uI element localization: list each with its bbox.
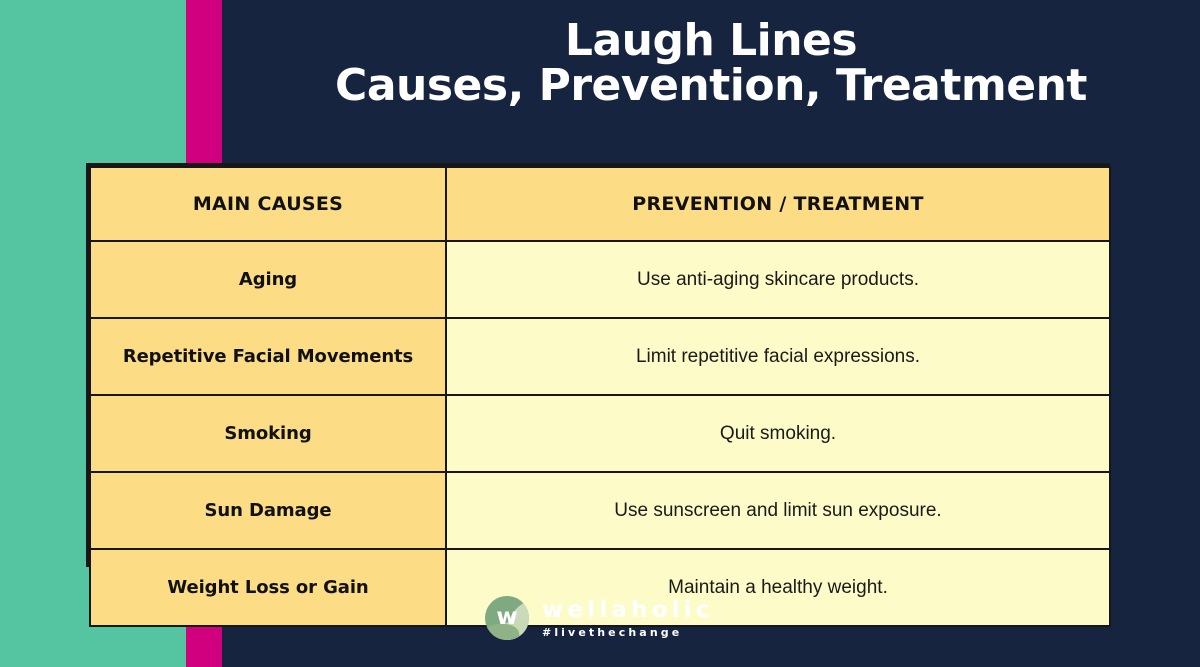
table-header-row: MAIN CAUSES PREVENTION / TREATMENT: [90, 167, 1110, 241]
cause-cell: Weight Loss or Gain: [90, 549, 446, 626]
page-title-line-2: Causes, Prevention, Treatment: [222, 63, 1200, 108]
poster-canvas: Laugh Lines Causes, Prevention, Treatmen…: [0, 0, 1200, 667]
column-header-main-causes: MAIN CAUSES: [90, 167, 446, 241]
brand-logo: w wellaholic #livethechange: [485, 596, 714, 640]
treatment-cell: Use sunscreen and limit sun exposure.: [446, 472, 1110, 549]
page-title-line-1: Laugh Lines: [222, 18, 1200, 63]
cause-cell: Sun Damage: [90, 472, 446, 549]
page-title: Laugh Lines Causes, Prevention, Treatmen…: [222, 18, 1200, 109]
cause-cell: Aging: [90, 241, 446, 318]
causes-treatment-table: MAIN CAUSES PREVENTION / TREATMENT Aging…: [86, 163, 1110, 567]
table-row: Sun Damage Use sunscreen and limit sun e…: [90, 472, 1110, 549]
treatment-cell: Limit repetitive facial expressions.: [446, 318, 1110, 395]
logo-letter-w: w: [485, 596, 529, 640]
column-header-prevention-treatment: PREVENTION / TREATMENT: [446, 167, 1110, 241]
cause-cell: Repetitive Facial Movements: [90, 318, 446, 395]
logo-tagline: #livethechange: [542, 627, 714, 638]
treatment-cell: Use anti-aging skincare products.: [446, 241, 1110, 318]
table-row: Smoking Quit smoking.: [90, 395, 1110, 472]
table-row: Repetitive Facial Movements Limit repeti…: [90, 318, 1110, 395]
cause-cell: Smoking: [90, 395, 446, 472]
table-row: Aging Use anti-aging skincare products.: [90, 241, 1110, 318]
logo-brand-name: wellaholic: [542, 599, 714, 622]
logo-circle-icon: w: [485, 596, 529, 640]
treatment-cell: Quit smoking.: [446, 395, 1110, 472]
